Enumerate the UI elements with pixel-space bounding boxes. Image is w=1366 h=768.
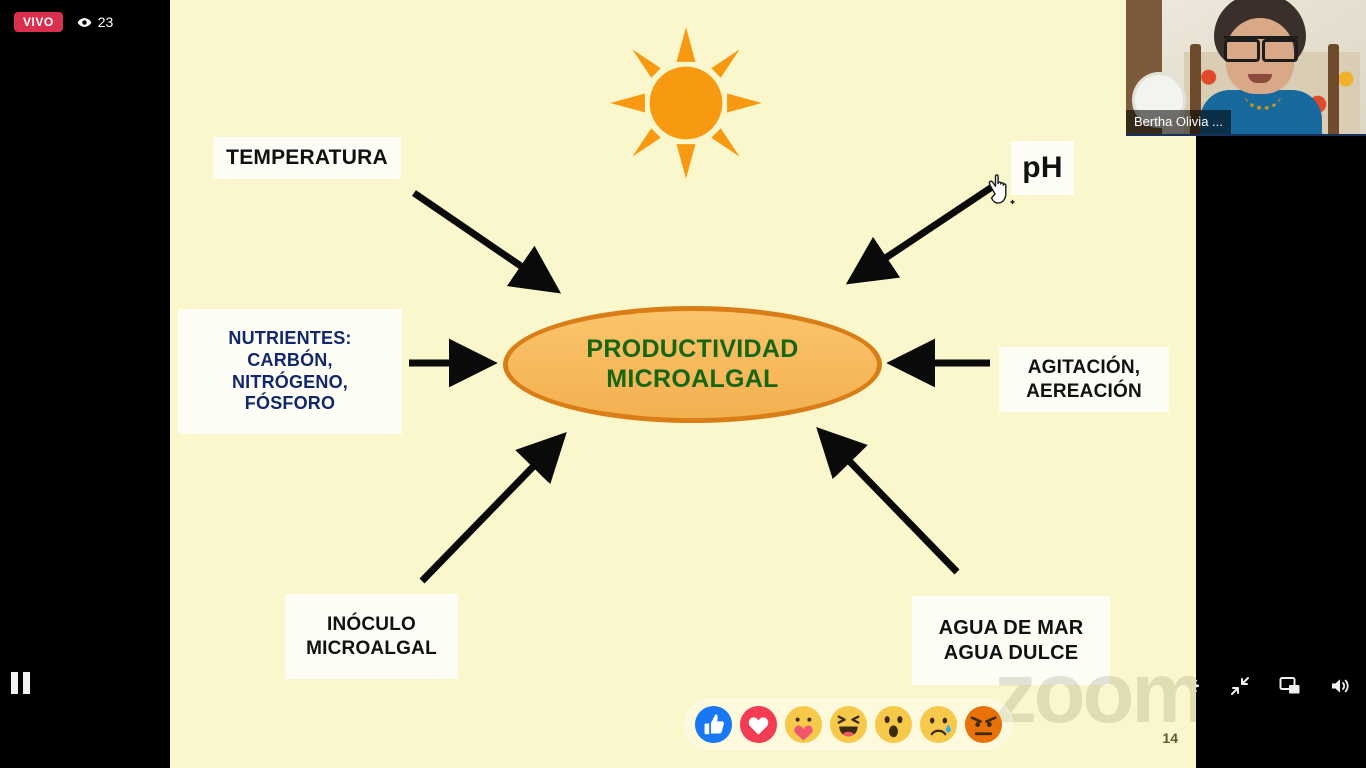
- wow-reaction[interactable]: [874, 705, 913, 744]
- haha-reaction[interactable]: [829, 705, 868, 744]
- exit-fullscreen-icon[interactable]: [1228, 674, 1252, 698]
- eye-icon: [77, 15, 92, 30]
- live-indicator-bar: VIVO 23: [14, 12, 113, 32]
- viewer-counter: 23: [77, 15, 114, 30]
- participant-video-thumbnail[interactable]: Bertha Olivia ...: [1126, 0, 1366, 136]
- video-person-glasses: [1224, 36, 1298, 53]
- participant-name-label: Bertha Olivia ...: [1126, 110, 1231, 134]
- zoom-watermark: zoom: [994, 651, 1196, 736]
- factor-inoculo-line1: INÓCULO: [327, 613, 416, 636]
- pause-button[interactable]: [11, 671, 37, 695]
- factor-agitacion-line2: AEREACIÓN: [1026, 380, 1142, 403]
- arrow-inoculo: [422, 439, 560, 581]
- factor-box-nutrientes: NUTRIENTES: CARBÓN, NITRÓGENO, FÓSFORO: [178, 309, 402, 434]
- picture-in-picture-icon[interactable]: [1278, 674, 1302, 698]
- central-concept-line1: PRODUCTIVIDAD: [586, 335, 798, 363]
- pause-bar-right: [23, 672, 30, 694]
- factor-nutrientes-line4: FÓSFORO: [245, 393, 335, 415]
- factor-nutrientes-line2: CARBÓN,: [247, 350, 332, 372]
- factor-temperatura-line1: TEMPERATURA: [226, 145, 388, 171]
- central-concept-line2: MICROALGAL: [606, 365, 778, 393]
- factor-nutrientes-line3: NITRÓGENO,: [232, 372, 348, 394]
- central-concept-label: PRODUCTIVIDAD MICROALGAL: [508, 335, 877, 394]
- factor-box-inoculo: INÓCULO MICROALGAL: [285, 594, 458, 679]
- hand-cursor: [987, 172, 1021, 210]
- player-controls-right: [1178, 674, 1352, 698]
- factor-agua-line1: AGUA DE MAR: [939, 616, 1084, 640]
- stream-player: VIVO 23: [0, 0, 1366, 768]
- factor-inoculo-line2: MICROALGAL: [306, 637, 437, 660]
- arrow-ph: [854, 185, 995, 279]
- factor-ph-line1: pH: [1022, 150, 1062, 187]
- viewer-count-label: 23: [98, 15, 114, 29]
- arrow-agua: [823, 434, 957, 572]
- arrow-temperatura: [414, 193, 553, 288]
- factor-box-temperatura: TEMPERATURA: [213, 137, 401, 179]
- like-reaction[interactable]: [694, 705, 733, 744]
- central-concept-node: PRODUCTIVIDAD MICROALGAL: [503, 306, 882, 423]
- care-reaction[interactable]: [784, 705, 823, 744]
- slide-number: 14: [1162, 730, 1178, 746]
- live-badge: VIVO: [14, 12, 63, 32]
- shared-slide[interactable]: PRODUCTIVIDAD MICROALGAL TEMPERATURA pH …: [170, 0, 1196, 768]
- sun-icon: [607, 24, 765, 182]
- love-reaction[interactable]: [739, 705, 778, 744]
- pause-bar-left: [11, 672, 18, 694]
- volume-on-icon[interactable]: [1328, 674, 1352, 698]
- video-chair-post-right: [1328, 44, 1339, 136]
- reactions-bar[interactable]: [684, 699, 1013, 750]
- factor-agitacion-line1: AGITACIÓN,: [1028, 356, 1140, 379]
- sad-reaction[interactable]: [919, 705, 958, 744]
- slide-surface: PRODUCTIVIDAD MICROALGAL TEMPERATURA pH …: [170, 0, 1196, 768]
- angry-reaction[interactable]: [964, 705, 1003, 744]
- factor-box-agitacion: AGITACIÓN, AEREACIÓN: [999, 347, 1169, 412]
- factor-nutrientes-line1: NUTRIENTES:: [228, 328, 351, 350]
